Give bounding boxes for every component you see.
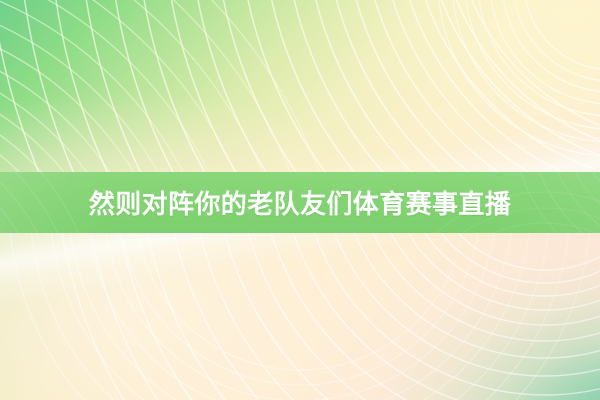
banner-title-text: 然则对阵你的老队友们体育赛事直播 bbox=[0, 172, 600, 233]
title-banner: 然则对阵你的老队友们体育赛事直播 bbox=[0, 172, 600, 233]
banner-image: 然则对阵你的老队友们体育赛事直播 bbox=[0, 0, 600, 400]
